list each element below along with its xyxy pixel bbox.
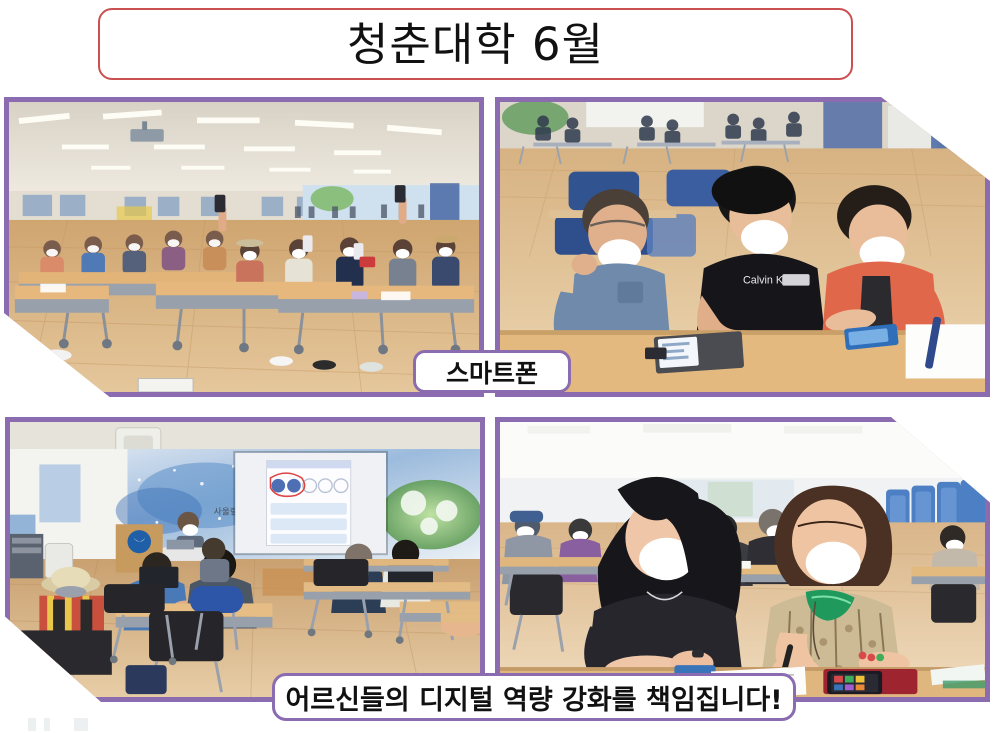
photo-volunteer-helping [495,417,990,702]
photo-volunteer-helping-image [500,422,985,697]
bottom-caption-banner: 어르신들의 디지털 역량 강화를 책임집니다! [272,673,796,721]
label-smartphone: 스마트폰 [413,350,571,393]
photo-classroom-group-image [9,102,479,392]
photo-instructor-helping-image: Calvin Klein [500,102,985,392]
label-smartphone-text: 스마트폰 [446,354,538,390]
page-title-banner: 청춘대학 6월 [98,8,853,80]
photo-lecture-hall: 사울림 [5,417,485,702]
photo-instructor-helping: Calvin Klein [495,97,990,397]
photo-lecture-hall-image: 사울림 [10,422,480,697]
page-footer-artifact [28,718,118,731]
photo-classroom-group [4,97,484,397]
page-title: 청춘대학 6월 [347,22,604,67]
bottom-caption-text: 어르신들의 디지털 역량 강화를 책임집니다! [285,678,782,717]
